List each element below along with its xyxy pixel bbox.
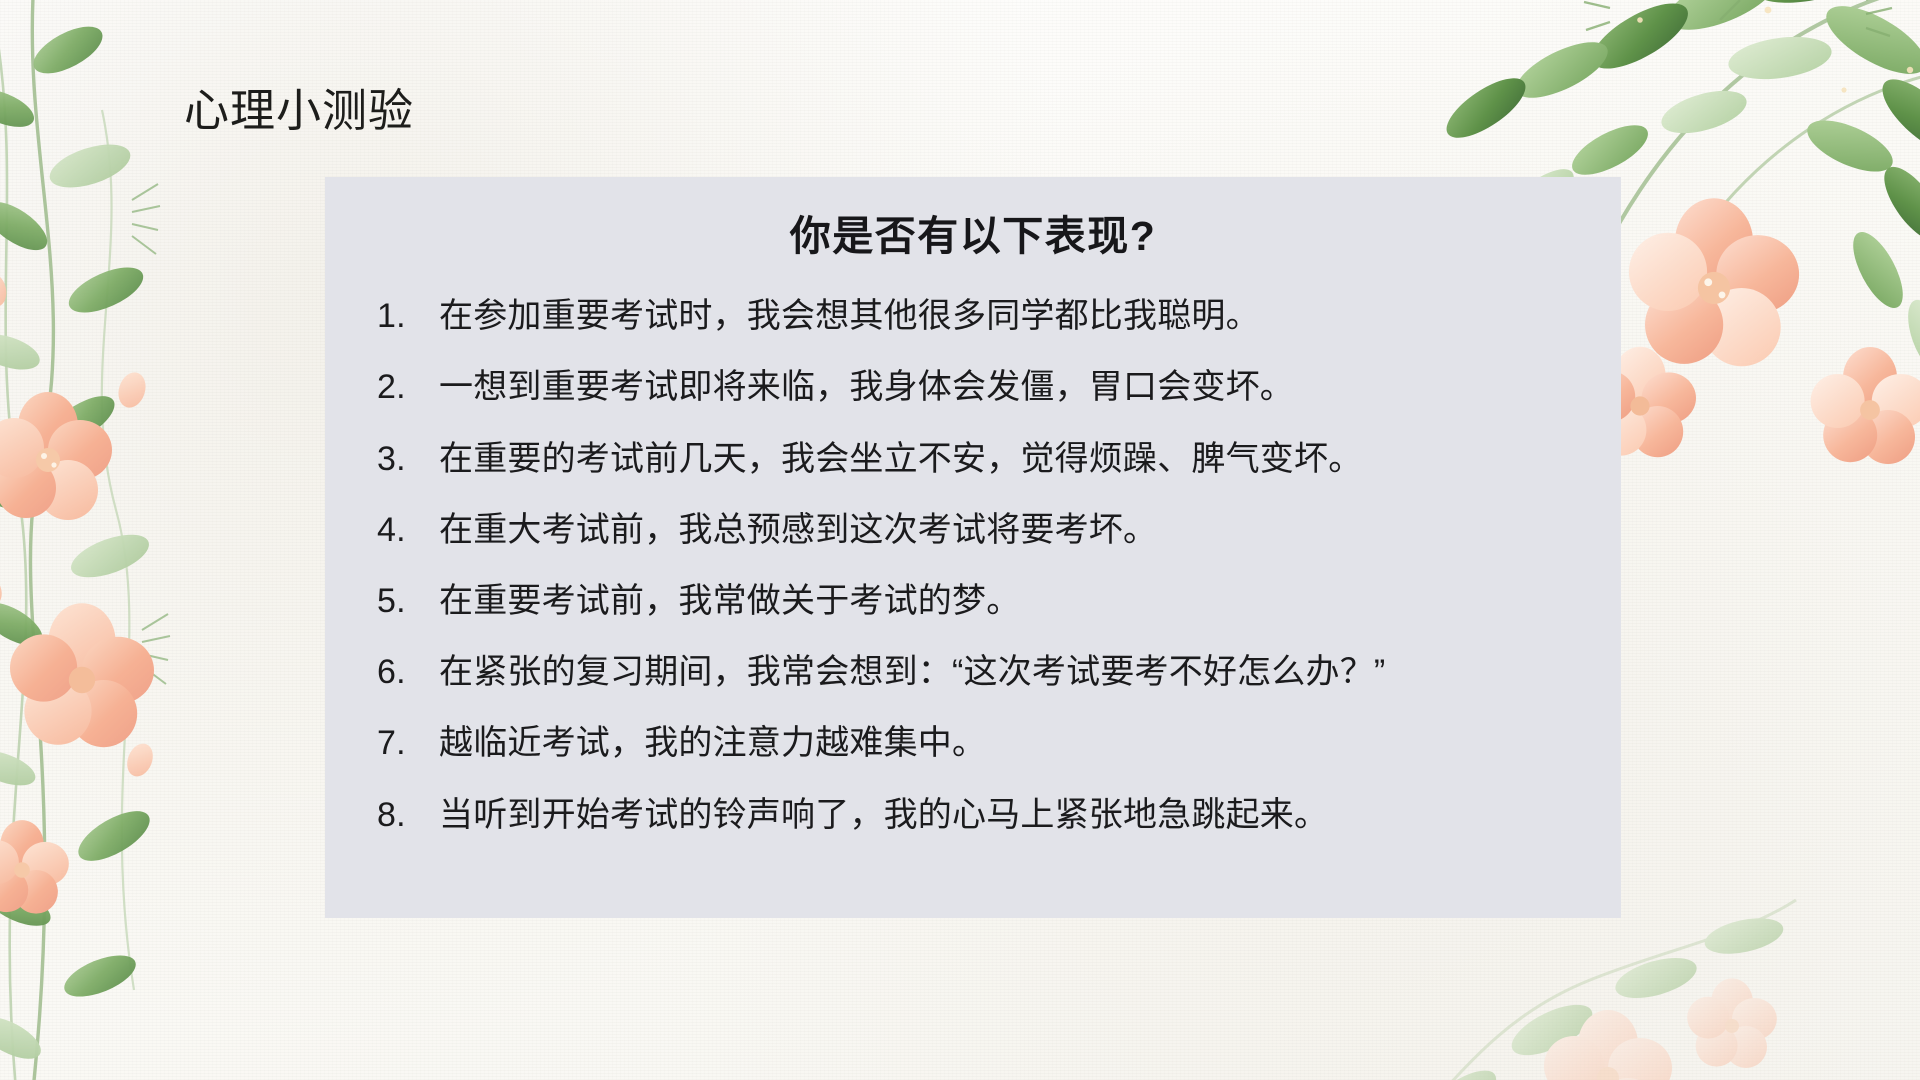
list-item-number: 4. xyxy=(377,508,439,552)
list-item-number: 8. xyxy=(377,793,439,837)
list-item-text: 在重要的考试前几天，我会坐立不安，觉得烦躁、脾气变坏。 xyxy=(439,437,1577,481)
quiz-item-list: 1. 在参加重要考试时，我会想其他很多同学都比我聪明。 2. 一想到重要考试即将… xyxy=(369,294,1577,837)
list-item-number: 5. xyxy=(377,579,439,623)
quiz-heading: 你是否有以下表现? xyxy=(369,211,1577,262)
list-item-number: 6. xyxy=(377,650,439,694)
list-item-number: 7. xyxy=(377,721,439,765)
list-item: 2. 一想到重要考试即将来临，我身体会发僵，胃口会变坏。 xyxy=(369,365,1577,409)
list-item-text: 越临近考试，我的注意力越难集中。 xyxy=(439,721,1577,765)
list-item-text: 一想到重要考试即将来临，我身体会发僵，胃口会变坏。 xyxy=(439,365,1577,409)
list-item: 1. 在参加重要考试时，我会想其他很多同学都比我聪明。 xyxy=(369,294,1577,338)
list-item: 5. 在重要考试前，我常做关于考试的梦。 xyxy=(369,579,1577,623)
list-item: 7. 越临近考试，我的注意力越难集中。 xyxy=(369,721,1577,765)
quiz-panel: 你是否有以下表现? 1. 在参加重要考试时，我会想其他很多同学都比我聪明。 2.… xyxy=(325,177,1621,918)
list-item-text: 在重大考试前，我总预感到这次考试将要考坏。 xyxy=(439,508,1577,552)
list-item: 4. 在重大考试前，我总预感到这次考试将要考坏。 xyxy=(369,508,1577,552)
list-item-number: 2. xyxy=(377,365,439,409)
presentation-slide: 心理小测验 你是否有以下表现? 1. 在参加重要考试时，我会想其他很多同学都比我… xyxy=(0,0,1920,1080)
list-item-text: 在重要考试前，我常做关于考试的梦。 xyxy=(439,579,1577,623)
list-item-text: 当听到开始考试的铃声响了，我的心马上紧张地急跳起来。 xyxy=(439,793,1577,837)
list-item: 8. 当听到开始考试的铃声响了，我的心马上紧张地急跳起来。 xyxy=(369,793,1577,837)
list-item-text: 在紧张的复习期间，我常会想到：“这次考试要考不好怎么办？” xyxy=(439,650,1577,694)
list-item-number: 1. xyxy=(377,294,439,338)
list-item: 3. 在重要的考试前几天，我会坐立不安，觉得烦躁、脾气变坏。 xyxy=(369,437,1577,481)
list-item-number: 3. xyxy=(377,437,439,481)
list-item: 6. 在紧张的复习期间，我常会想到：“这次考试要考不好怎么办？” xyxy=(369,650,1577,694)
list-item-text: 在参加重要考试时，我会想其他很多同学都比我聪明。 xyxy=(439,294,1577,338)
page-title: 心理小测验 xyxy=(184,86,414,136)
